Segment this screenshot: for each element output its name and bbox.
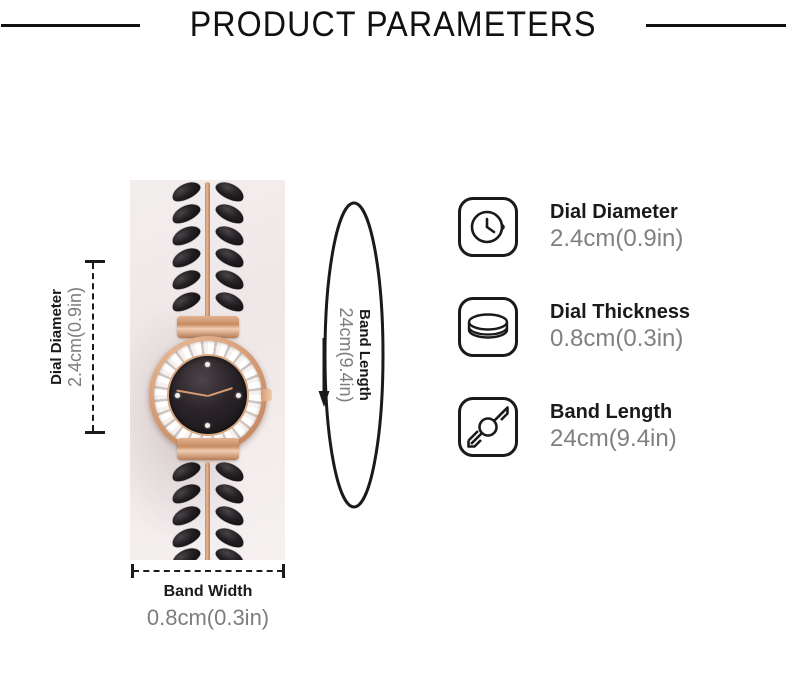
leaf-gem [213,458,247,485]
spec-list: Dial Diameter 2.4cm(0.9in) Dial Thicknes… [458,188,778,488]
leaf-gem [213,288,247,315]
dial-diameter-measure: Dial Diameter 2.4cm(0.9in) [36,258,98,436]
leaf-gem [213,222,247,249]
watch-dial [169,356,247,434]
leaf-gem [169,458,203,485]
leaf-gem [169,502,203,529]
watch-case [149,336,267,454]
spec-value: 2.4cm(0.9in) [550,225,683,253]
leaf-gem [213,266,247,293]
spec-text-dial-thickness: Dial Thickness 0.8cm(0.3in) [550,301,690,353]
watch-crown [261,389,272,401]
dial-marker [205,362,210,367]
spec-row-dial-diameter: Dial Diameter 2.4cm(0.9in) [458,188,778,266]
dimension-dashes [133,570,283,572]
band-width-annotation-label: Band Width [125,583,291,601]
chain-stem [205,462,210,560]
bracelet-chain-top [169,182,247,318]
spec-value: 0.8cm(0.3in) [550,325,690,353]
spec-text-band-length: Band Length 24cm(9.4in) [550,401,677,453]
watch-dial-icon [458,197,518,257]
page-title: PRODUCT PARAMETERS [190,5,597,45]
leaf-gem [169,288,203,315]
spec-row-dial-thickness: Dial Thickness 0.8cm(0.3in) [458,288,778,366]
spec-label: Band Length [550,401,677,425]
leaf-gem [169,524,203,551]
leaf-gem [213,244,247,271]
band-length-annotation: Band Length 24cm(9.4in) [335,250,373,460]
dial-marker [236,393,241,398]
dial-diameter-dimension-line [92,263,94,431]
bracelet-chain-bottom [169,462,247,560]
band-length-loop: Band Length 24cm(9.4in) [318,195,390,515]
dimension-cap-right [282,564,285,578]
leaf-gem [169,244,203,271]
hour-hand [207,387,232,397]
watch-band-icon [458,397,518,457]
bracelet-link-bottom [177,438,239,460]
leaf-gem [169,180,203,205]
spec-row-band-length: Band Length 24cm(9.4in) [458,388,778,466]
leaf-gem [169,266,203,293]
band-width-dimension-line [133,565,283,577]
spec-label: Dial Diameter [550,201,683,225]
dial-diameter-annotation-value: 2.4cm(0.9in) [65,252,86,422]
product-photo [130,180,285,560]
leaf-gem [213,524,247,551]
band-width-measure: Band Width 0.8cm(0.3in) [125,565,291,631]
leaf-gem [213,480,247,507]
leaf-gem [213,180,247,205]
spec-value: 24cm(9.4in) [550,425,677,453]
dial-marker [205,423,210,428]
dial-marker [175,393,180,398]
chain-stem [205,182,210,318]
band-length-annotation-value: 24cm(9.4in) [335,250,356,460]
band-length-annotation-label: Band Length [356,250,373,460]
leaf-gem [213,502,247,529]
disc-thickness-icon [458,297,518,357]
leaf-gem [213,200,247,227]
band-width-annotation-value: 0.8cm(0.3in) [125,605,291,631]
title-rule-left [1,24,140,27]
spec-text-dial-diameter: Dial Diameter 2.4cm(0.9in) [550,201,683,253]
dial-diameter-annotation: Dial Diameter 2.4cm(0.9in) [48,252,86,422]
title-rule-right [646,24,786,27]
leaf-gem [169,480,203,507]
leaf-gem [169,222,203,249]
spec-label: Dial Thickness [550,301,690,325]
bracelet-link-top [177,316,239,338]
minute-hand [176,389,208,397]
page-header: PRODUCT PARAMETERS [0,0,787,50]
leaf-gem [169,200,203,227]
dial-diameter-annotation-label: Dial Diameter [48,252,65,422]
